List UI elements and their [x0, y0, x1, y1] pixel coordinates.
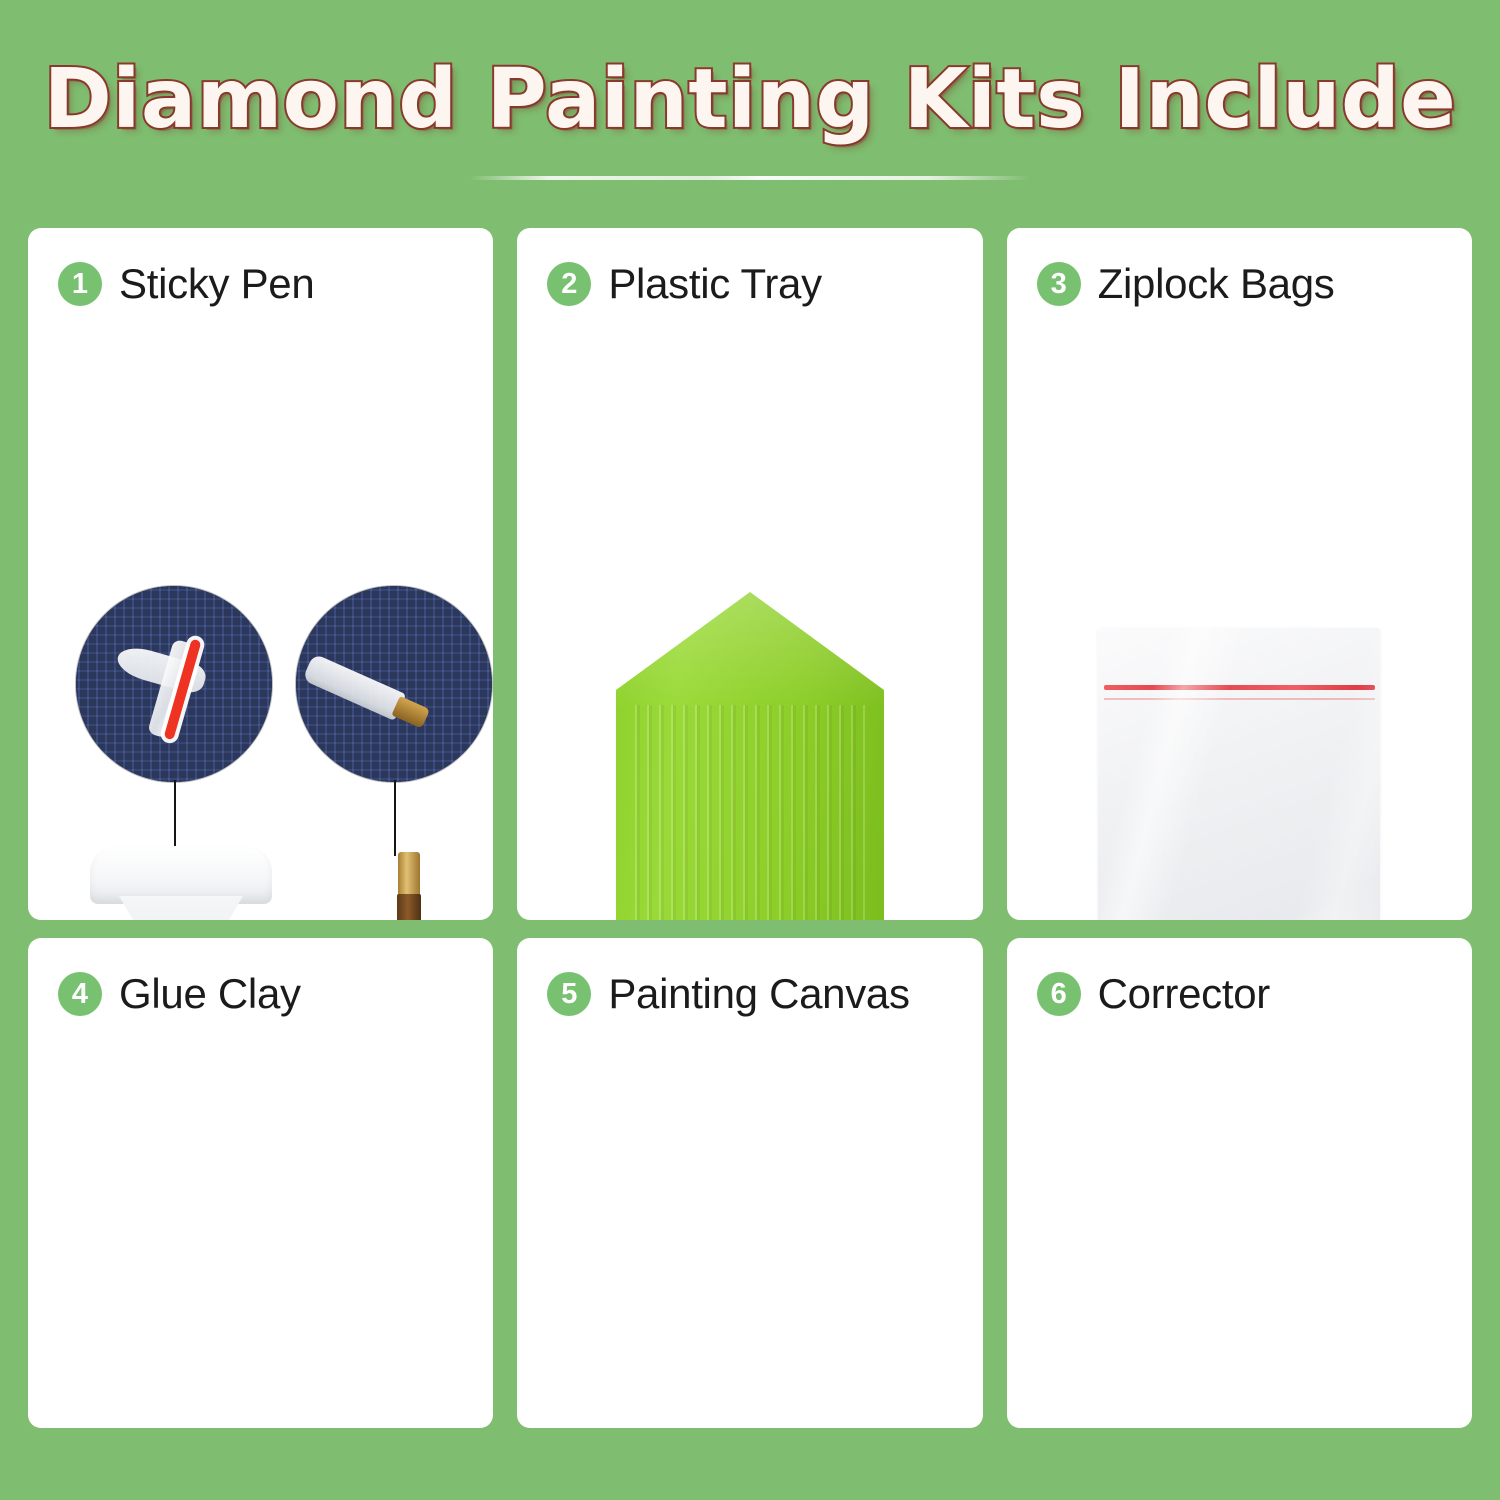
page-title: Diamond Painting Kits Include [44, 52, 1457, 147]
title-divider [470, 176, 1030, 180]
painting-canvas-illustration: V V I I J G G G G G C G G G I I I T G G … [517, 938, 982, 1428]
corrector-illustration [1007, 938, 1472, 1428]
leader-line-icon [174, 780, 176, 850]
card-glue-clay[interactable]: 4 Glue Clay [28, 938, 493, 1428]
leader-line-icon [394, 780, 396, 856]
page-header: Diamond Painting Kits Include [0, 0, 1500, 200]
ziplock-bag-illustration [1007, 228, 1472, 920]
card-sticky-pen[interactable]: 1 Sticky Pen [28, 228, 493, 920]
diamond-pen-icon [374, 852, 444, 920]
card-corrector[interactable]: 6 Corrector [1007, 938, 1472, 1428]
card-plastic-tray[interactable]: 2 Plastic Tray [517, 228, 982, 920]
ziplock-bag-icon [1098, 628, 1380, 920]
magnifier-inset-tool-icon [76, 586, 272, 782]
kit-contents-grid: 1 Sticky Pen [28, 228, 1472, 1426]
card-painting-canvas[interactable]: 5 Painting Canvas V V I I J G G G G G C … [517, 938, 982, 1428]
magnifier-inset-pen-icon [296, 586, 492, 782]
card-ziplock-bags[interactable]: 3 Ziplock Bags [1007, 228, 1472, 920]
glue-clay-illustration [28, 938, 493, 1428]
t-applicator-icon [90, 846, 272, 920]
sticky-pen-illustration [28, 228, 493, 920]
plastic-tray-illustration [517, 228, 982, 920]
plastic-tray-icon [616, 592, 884, 920]
